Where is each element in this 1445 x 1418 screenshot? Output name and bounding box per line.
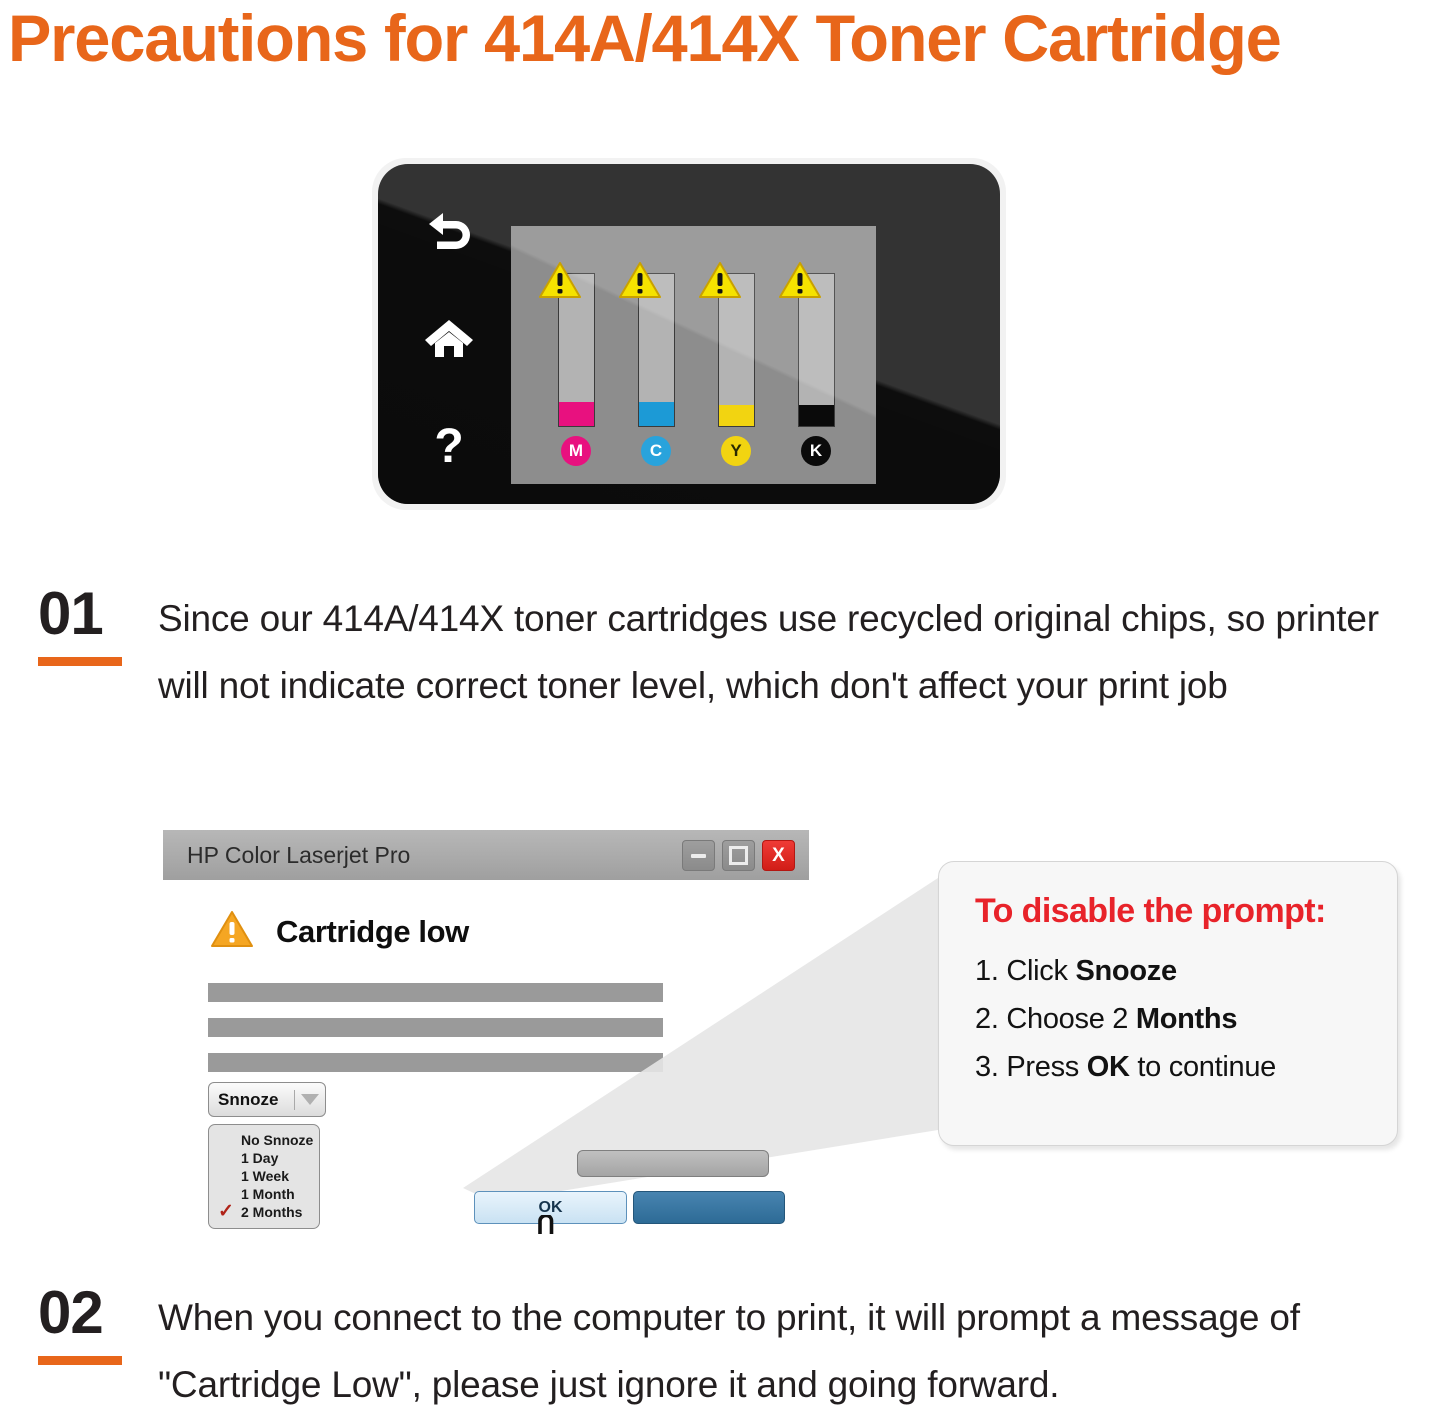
check-icon: ✓ xyxy=(218,1203,234,1221)
maximize-icon xyxy=(729,846,748,865)
toner-badge: K xyxy=(801,436,831,466)
toner-badge: C xyxy=(641,436,671,466)
toner-gauge-bar xyxy=(558,273,595,427)
minimize-button[interactable] xyxy=(682,840,715,871)
printer-control-panel-illustration: ? M xyxy=(372,158,1006,510)
callout-item-pre: Click xyxy=(1006,955,1075,987)
toner-gauge-black: K xyxy=(788,273,844,466)
snooze-option-label: 1 Month xyxy=(241,1186,295,1202)
placeholder-bar xyxy=(208,983,663,1002)
snooze-option[interactable]: 1 Day xyxy=(209,1149,319,1167)
snooze-option[interactable]: 1 Week xyxy=(209,1167,319,1185)
step-number: 02 xyxy=(38,1284,158,1342)
dialog-screenshot-scene: HP Color Laserjet Pro X Cartridge low xyxy=(163,830,1403,1270)
step-text: Since our 414A/414X toner cartridges use… xyxy=(158,585,1418,719)
toner-fill-level xyxy=(639,402,674,426)
snooze-dropdown-value: Snnoze xyxy=(209,1090,294,1110)
step-02-marker: 02 xyxy=(38,1284,158,1365)
window-controls: X xyxy=(682,840,795,871)
printer-screen: M C xyxy=(511,226,876,484)
cartridge-low-alert: Cartridge low xyxy=(210,909,469,954)
secondary-button[interactable] xyxy=(577,1150,769,1177)
callout-item-number: 3. xyxy=(975,1051,999,1083)
step-accent-rule xyxy=(38,657,122,666)
svg-text:?: ? xyxy=(434,422,463,473)
callout-item-number: 2. xyxy=(975,1003,999,1035)
placeholder-bar xyxy=(208,1053,663,1072)
warning-triangle-icon xyxy=(210,909,254,954)
primary-blue-button[interactable] xyxy=(633,1191,785,1224)
callout-item-3: 3. Press OK to continue xyxy=(975,1043,1397,1091)
callout-item-pre: Press xyxy=(1006,1051,1086,1083)
step-02: 02 When you connect to the computer to p… xyxy=(38,1284,1418,1418)
printer-dialog-window: HP Color Laserjet Pro X Cartridge low xyxy=(163,830,809,1234)
callout-item-post: to continue xyxy=(1130,1051,1276,1083)
dialog-titlebar: HP Color Laserjet Pro X xyxy=(163,830,809,880)
step-accent-rule xyxy=(38,1356,122,1365)
snooze-option-label: No Snnoze xyxy=(241,1132,313,1148)
dialog-title: HP Color Laserjet Pro xyxy=(187,842,410,869)
warning-triangle-icon xyxy=(539,261,581,304)
callout-item-strong: Snooze xyxy=(1075,955,1176,987)
home-icon[interactable] xyxy=(423,315,475,361)
chevron-down-icon[interactable] xyxy=(295,1094,325,1105)
callout-item-2: 2. Choose 2 Months xyxy=(975,995,1397,1043)
minimize-icon xyxy=(691,854,706,858)
step-number: 01 xyxy=(38,585,158,643)
toner-fill-level xyxy=(719,405,754,426)
callout-box: To disable the prompt: 1. Click Snooze 2… xyxy=(938,861,1398,1146)
toner-fill-level xyxy=(799,405,834,426)
toner-badge: M xyxy=(561,436,591,466)
toner-gauge-bar xyxy=(638,273,675,427)
snooze-option-selected[interactable]: ✓ 2 Months xyxy=(209,1203,319,1221)
printer-body: ? M xyxy=(378,164,1000,504)
toner-gauge-bar xyxy=(718,273,755,427)
callout-item-strong: Months xyxy=(1136,1003,1237,1035)
toner-gauge-bar xyxy=(798,273,835,427)
snooze-option-label: 1 Day xyxy=(241,1150,278,1166)
maximize-button[interactable] xyxy=(722,840,755,871)
placeholder-bar xyxy=(208,1018,663,1037)
snooze-dropdown-list[interactable]: No Snnoze 1 Day 1 Week 1 Month ✓ 2 Month… xyxy=(208,1124,320,1229)
snooze-option[interactable]: No Snnoze xyxy=(209,1131,319,1149)
toner-badge: Y xyxy=(721,436,751,466)
dialog-placeholder-text xyxy=(208,983,663,1088)
warning-triangle-icon xyxy=(619,261,661,304)
callout-item-pre: Choose 2 xyxy=(1006,1003,1136,1035)
callout-heading: To disable the prompt: xyxy=(975,892,1397,931)
step-01: 01 Since our 414A/414X toner cartridges … xyxy=(38,585,1418,719)
printer-nav-icons: ? xyxy=(406,206,492,474)
step-01-marker: 01 xyxy=(38,585,158,666)
callout-item-number: 1. xyxy=(975,955,999,987)
toner-fill-level xyxy=(559,402,594,426)
hand-pointer-cursor xyxy=(520,1215,582,1234)
alert-title: Cartridge low xyxy=(276,914,469,950)
back-arrow-icon[interactable] xyxy=(423,206,475,254)
toner-gauge-yellow: Y xyxy=(708,273,764,466)
callout-item-strong: OK xyxy=(1087,1051,1130,1083)
toner-gauge-row: M C xyxy=(536,244,856,466)
step-text: When you connect to the computer to prin… xyxy=(158,1284,1418,1418)
warning-triangle-icon xyxy=(699,261,741,304)
toner-gauge-magenta: M xyxy=(548,273,604,466)
callout-item-1: 1. Click Snooze xyxy=(975,947,1397,995)
snooze-dropdown[interactable]: Snnoze xyxy=(208,1082,326,1117)
warning-triangle-icon xyxy=(779,261,821,304)
help-question-icon[interactable]: ? xyxy=(430,422,468,474)
toner-gauge-cyan: C xyxy=(628,273,684,466)
snooze-option-label: 2 Months xyxy=(241,1204,302,1220)
close-button[interactable]: X xyxy=(762,840,795,871)
page-title: Precautions for 414A/414X Toner Cartridg… xyxy=(8,0,1423,78)
snooze-option-label: 1 Week xyxy=(241,1168,289,1184)
